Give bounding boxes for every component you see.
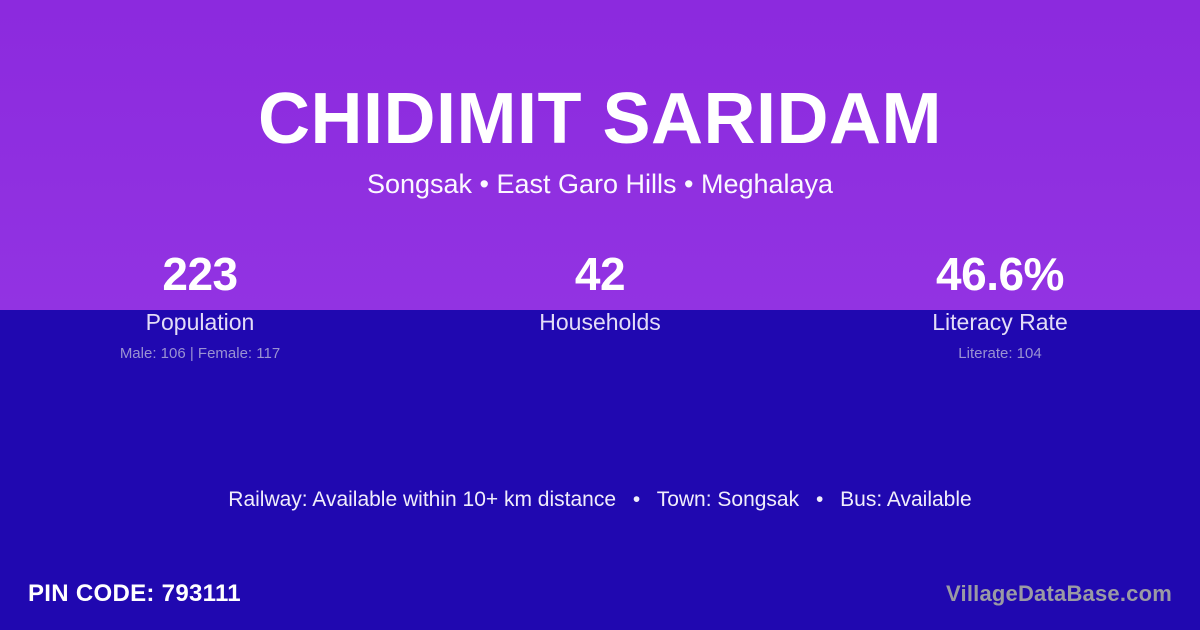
stat-label: Literacy Rate [800,308,1200,336]
stat-sub-detail: Literate: 104 [800,345,1200,363]
village-info-card: CHIDIMIT SARIDAM Songsak • East Garo Hil… [0,0,1200,630]
amenity-bus: Bus: Available [840,488,972,511]
stat-sub-detail [400,345,800,363]
amenity-town: Town: Songsak [657,488,799,511]
stat-label: Population [0,308,400,336]
stat-value: 42 [400,248,800,300]
site-brand-watermark: VillageDataBase.com [946,580,1172,608]
stat-label: Households [400,308,800,336]
breadcrumb: Songsak • East Garo Hills • Meghalaya [0,168,1200,200]
stat-literacy-rate: 46.6% Literacy Rate Literate: 104 [800,248,1200,363]
pin-code-label: PIN CODE: 793111 [28,580,241,608]
bullet-separator-icon: • [622,486,651,514]
stats-row: 223 Population Male: 106 | Female: 117 4… [0,248,1200,363]
amenities-line: Railway: Available within 10+ km distanc… [0,486,1200,514]
hero-text-block: CHIDIMIT SARIDAM Songsak • East Garo Hil… [0,0,1200,200]
stat-value: 223 [0,248,400,300]
stat-households: 42 Households [400,248,800,363]
page-title: CHIDIMIT SARIDAM [0,78,1200,160]
bullet-separator-icon: • [805,486,834,514]
amenity-railway: Railway: Available within 10+ km distanc… [228,488,616,511]
stat-value: 46.6% [800,248,1200,300]
stat-population: 223 Population Male: 106 | Female: 117 [0,248,400,363]
stat-sub-detail: Male: 106 | Female: 117 [0,345,400,363]
